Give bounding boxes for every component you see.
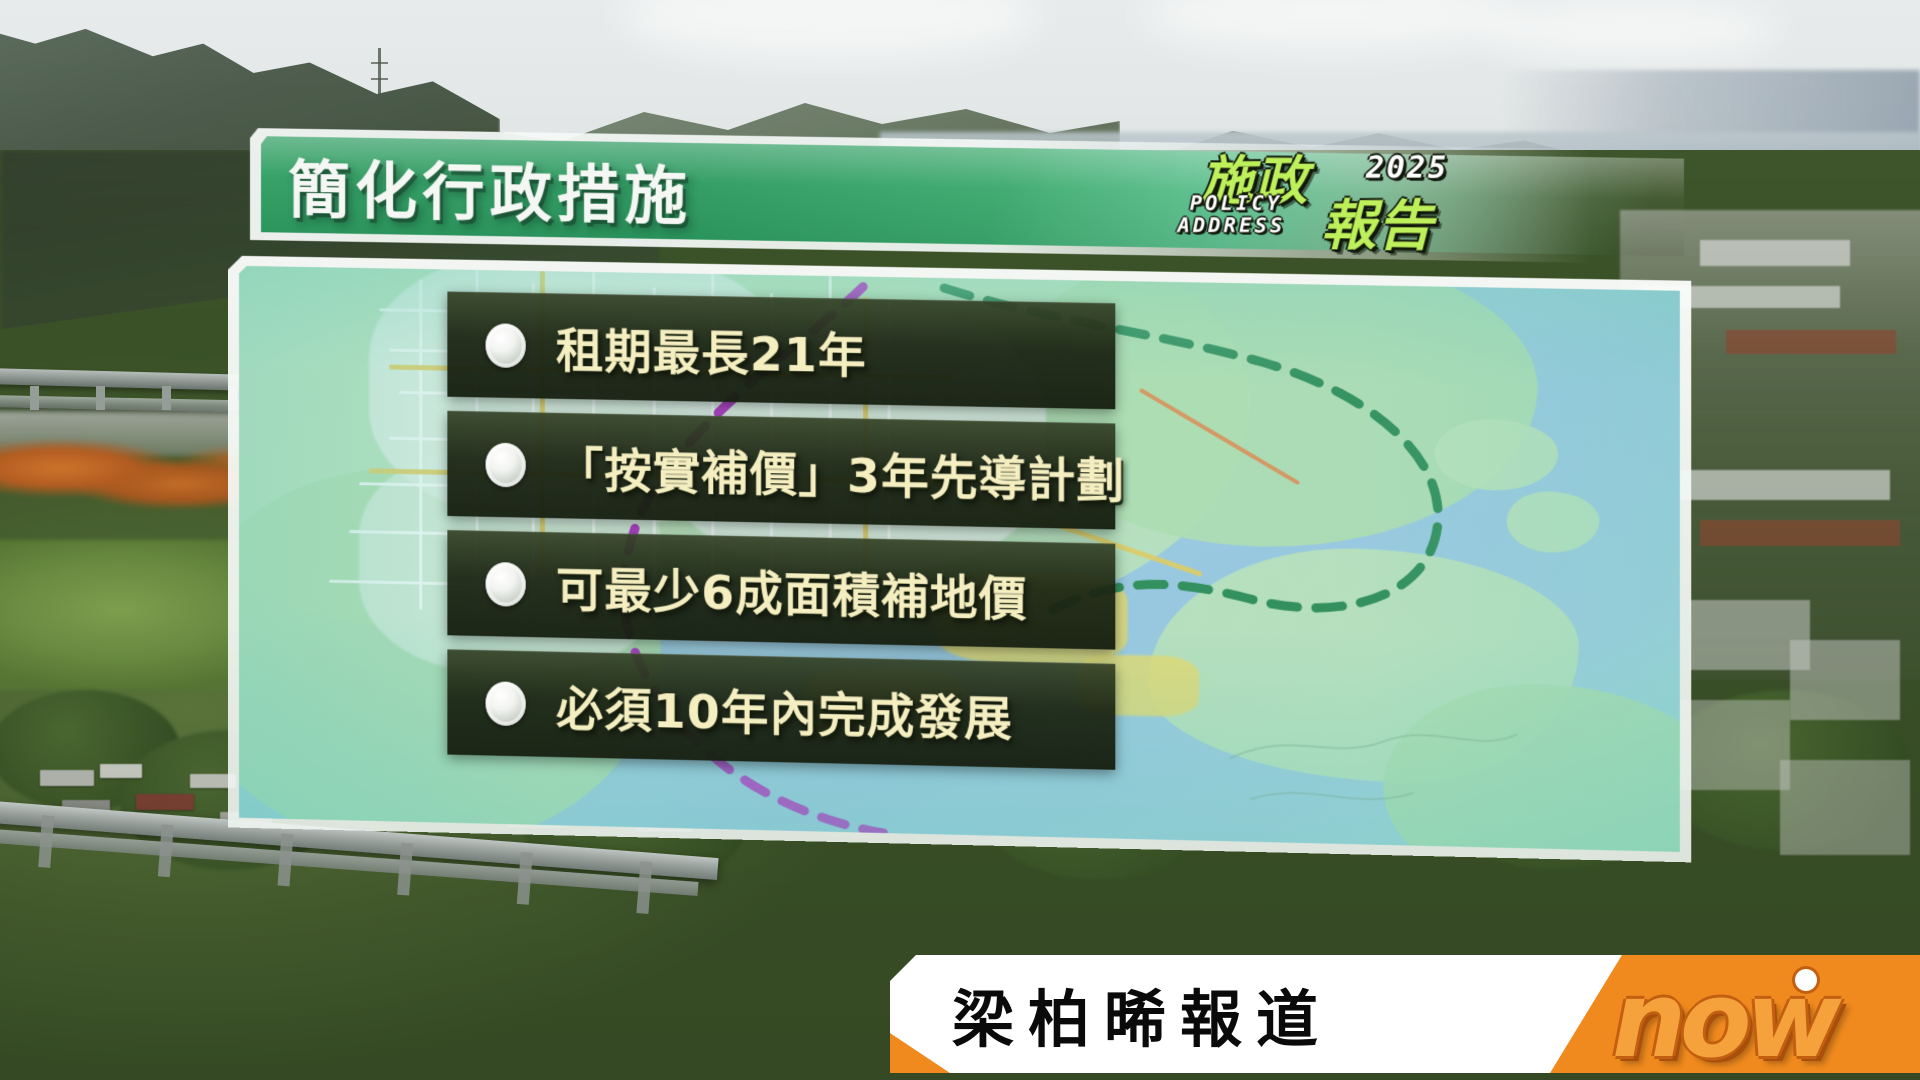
list-item[interactable]: 必須10年內完成發展 [447,649,1115,770]
bullet-list: 租期最長21年 「按實補價」3年先導計劃 可最少6成面積補地價 必須10年內完成… [447,291,1115,824]
list-item-label: 租期最長21年 [556,311,867,386]
content-panel: 租期最長21年 「按實補價」3年先導計劃 可最少6成面積補地價 必須10年內完成… [228,256,1691,863]
page-title: 簡化行政措施 [288,137,1198,248]
transmission-pylon [378,48,381,116]
panel-map-background: 租期最長21年 「按實補價」3年先導計劃 可最少6成面積補地價 必須10年內完成… [239,266,1680,852]
policy-address-graphic: 簡化行政措施 施政 2025 POLICY ADDRESS 報告 [250,128,1693,862]
list-item[interactable]: 租期最長21年 [447,291,1115,409]
list-item-label: 必須10年內完成發展 [556,670,1013,750]
circle-bullet-icon [486,442,526,487]
policy-address-logo: 施政 2025 POLICY ADDRESS 報告 [1190,136,1632,258]
list-item[interactable]: 「按實補價」3年先導計劃 [447,411,1115,530]
list-item-label: 「按實補價」3年先導計劃 [556,431,1125,512]
now-logo-dot-icon [1795,969,1817,991]
red-roof [1700,520,1900,546]
warehouse-roof [1670,470,1890,500]
red-roof [1726,330,1896,354]
logo-title-en-line1: POLICY [1190,193,1282,213]
logo-title-bottom: 報告 [1321,181,1434,261]
village-house [1790,640,1900,720]
list-item[interactable]: 可最少6成面積補地價 [447,530,1115,650]
reporter-name: 梁柏晞報道 [952,967,1332,1061]
cloud [1480,0,1780,60]
circle-bullet-icon [486,323,526,368]
header-bar: 簡化行政措施 施政 2025 POLICY ADDRESS 報告 [250,128,1693,265]
lower-third-caption: 梁柏晞報道 now [890,955,1920,1075]
village-house [1780,760,1910,855]
logo-title-en-line2: ADDRESS [1178,215,1286,235]
list-item-label: 可最少6成面積補地價 [556,550,1027,629]
warehouse-roof [1700,240,1850,266]
circle-bullet-icon [486,561,526,606]
circle-bullet-icon [486,681,526,726]
